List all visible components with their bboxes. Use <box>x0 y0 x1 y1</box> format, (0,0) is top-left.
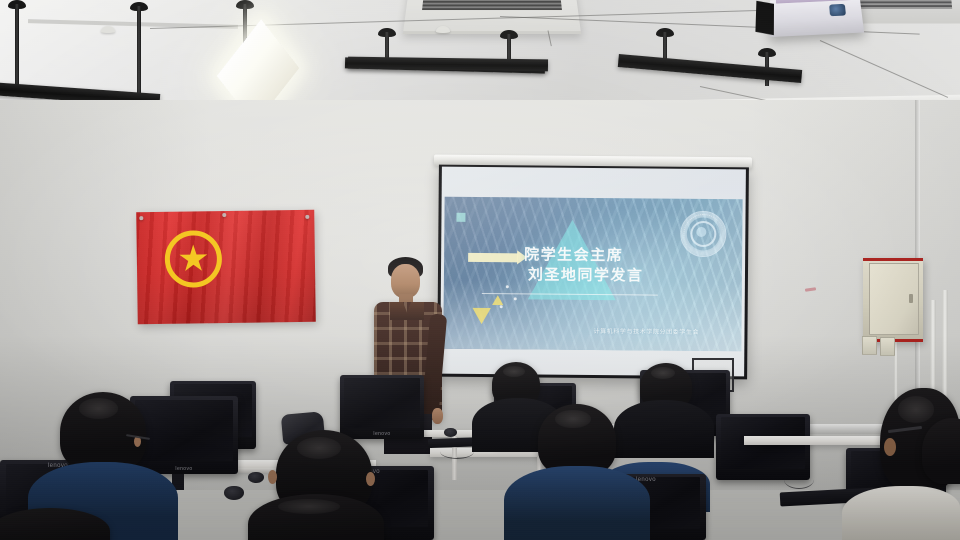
ac-grille <box>422 0 562 10</box>
presenter-hand <box>432 408 443 424</box>
ear-mid-center-2 <box>366 472 375 486</box>
ear-right-student <box>884 438 896 456</box>
slide-decor-arrow <box>468 253 518 262</box>
electrical-distribution-panel[interactable] <box>863 258 923 342</box>
smoke-detector-icon-2 <box>436 26 450 33</box>
flag-tack-1 <box>139 216 143 220</box>
slide-decor-triangle-small-1 <box>492 295 503 305</box>
slide-decor-dot-2 <box>514 297 517 300</box>
slide-decor-dot-1 <box>506 285 509 288</box>
monitor-mid-2: lenovo <box>130 396 238 474</box>
flag-fabric-folds <box>136 210 316 324</box>
flag-tack-2 <box>222 213 226 217</box>
seal-inner-ring <box>690 221 716 247</box>
hair-highlight <box>503 366 525 377</box>
hair-highlight <box>297 437 341 459</box>
flag-tack-3 <box>305 215 309 219</box>
university-seal-logo-icon <box>680 211 726 257</box>
computer-desk-middle-right <box>744 436 894 445</box>
monitor-brand-logo: lenovo <box>175 466 192 472</box>
mouse-mid[interactable] <box>224 486 244 500</box>
mouse-back[interactable] <box>444 428 457 437</box>
hair-highlight <box>898 396 935 423</box>
wall-socket-box-1[interactable] <box>862 336 877 355</box>
mouse-mid-2[interactable] <box>248 472 264 483</box>
projector-lens-icon <box>829 4 846 16</box>
wall-socket-box-2[interactable] <box>880 337 895 356</box>
projector-icon <box>770 0 864 37</box>
slide-title-line1: 院学生会主席 <box>524 246 623 264</box>
light-rod-1 <box>15 4 19 90</box>
slide-decor-triangle-small-2 <box>472 308 491 324</box>
hair-highlight <box>651 367 675 379</box>
light-rod-2 <box>137 6 141 94</box>
monitor-back-2: lenovo <box>340 375 424 439</box>
monitor-brand-logo: lenovo <box>373 431 390 437</box>
presenter-head <box>391 264 420 298</box>
slide-footer-text: 计算机科学与技术学院分团委学生会 <box>593 326 699 336</box>
communist-youth-league-flag <box>136 210 316 324</box>
projected-slide: 院学生会主席 刘圣地同学发言 计算机科学与技术学院分团委学生会 <box>443 197 742 352</box>
student-right-glasses-shoulders <box>842 486 960 540</box>
projector-side-shadow <box>755 1 774 35</box>
star-icon <box>179 244 208 273</box>
student-back-left-shoulders <box>614 400 714 458</box>
student-mid-right-shoulders <box>504 466 650 540</box>
hair-highlight <box>79 398 119 419</box>
slide-decor-square <box>456 213 465 222</box>
cable-right <box>784 470 814 489</box>
classroom-photo-scene: 院学生会主席 刘圣地同学发言 计算机科学与技术学院分团委学生会 <box>0 0 960 540</box>
smoke-detector-icon <box>101 26 115 33</box>
cable-back <box>440 444 474 459</box>
panel-latch-icon[interactable] <box>909 294 913 303</box>
hair-highlight <box>278 499 341 515</box>
monitor-screen <box>344 378 420 428</box>
projection-screen-surface: 院学生会主席 刘圣地同学发言 计算机科学与技术学院分团委学生会 <box>440 167 746 377</box>
hair-highlight <box>555 410 591 429</box>
slide-title-line2: 刘圣地同学发言 <box>528 265 644 286</box>
slide-decor-dot-3 <box>500 305 503 308</box>
slide-title: 院学生会主席 刘圣地同学发言 <box>524 245 644 286</box>
panel-door[interactable] <box>869 263 919 335</box>
monitor-screen <box>135 400 232 461</box>
ear-mid-center <box>268 470 277 484</box>
student-mid-left <box>60 392 146 472</box>
projection-screen: 院学生会主席 刘圣地同学发言 计算机科学与技术学院分团委学生会 <box>437 165 749 380</box>
